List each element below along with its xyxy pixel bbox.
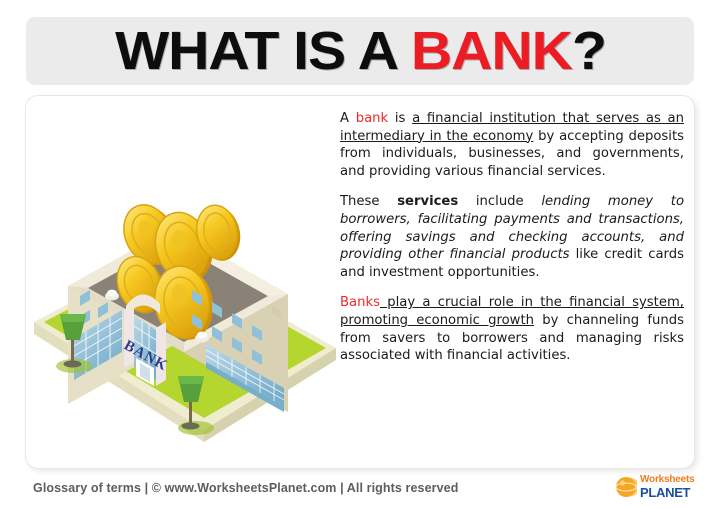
p2-start: These [340,194,397,209]
logo-word-worksheets: Worksheets [640,475,695,485]
bank-building-illustration: BANK [26,100,344,464]
page-title-question-mark: ? [571,21,605,81]
definition-text-column: A bank is a financial institution that s… [340,110,684,458]
logo-word-planet: PLANET [640,486,695,499]
p2-mid: include [458,194,541,209]
page-title-bar: WHAT IS A BANK? [26,17,694,85]
logo-wordmark: Worksheets PLANET [640,475,695,499]
p2-bold-keyword: services [397,194,458,209]
content-card: BANK A bank is a financial institution t… [26,96,694,468]
paragraph-1: A bank is a financial institution that s… [340,110,684,180]
p3-keyword: Banks [340,295,380,310]
p1-after-lead: is [388,111,412,126]
page-title: WHAT IS A BANK? [115,24,606,78]
paragraph-3: Banks play a crucial role in the financi… [340,294,684,364]
p1-before-lead: A [340,111,356,126]
paragraph-2: These services include lending money to … [340,193,684,281]
page-title-part-1: WHAT IS A [115,21,411,81]
worksheets-planet-logo: Worksheets PLANET [615,472,720,502]
globe-icon [615,476,637,498]
footer-credit-text: Glossary of terms | © www.WorksheetsPlan… [33,481,458,495]
p1-keyword: bank [356,111,388,126]
page-title-part-highlight: BANK [410,21,571,81]
footer: Glossary of terms | © www.WorksheetsPlan… [33,474,693,502]
